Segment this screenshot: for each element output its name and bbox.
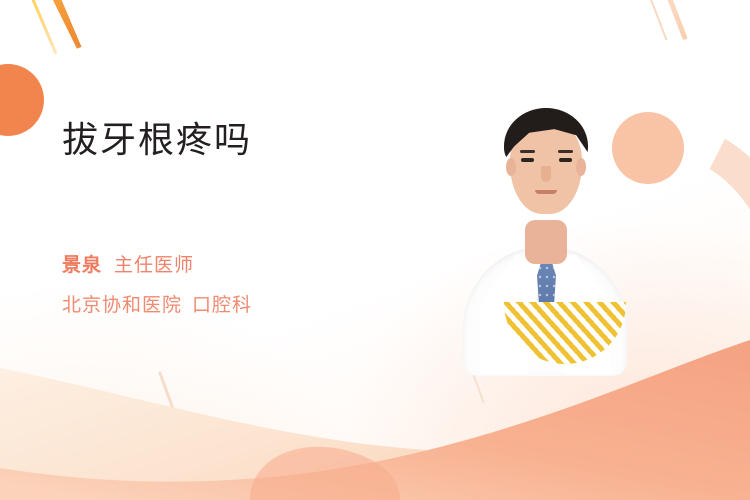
page-title: 拔牙根疼吗 [62, 118, 252, 161]
doctor-eyebrow-left [520, 150, 535, 153]
doctor-hospital: 北京协和医院 [62, 295, 182, 316]
doctor-hospital-department-line: 北京协和医院口腔科 [62, 290, 252, 317]
video-cover-card: 拔牙根疼吗 景泉主任医师 北京协和医院口腔科 [0, 0, 750, 500]
doctor-eye-left [521, 158, 534, 162]
bottom-wave-decoration [0, 340, 750, 500]
doctor-eye-right [559, 158, 572, 162]
doctor-nose [541, 166, 551, 182]
doctor-ear-left [506, 158, 516, 176]
doctor-mouth [535, 190, 557, 194]
doctor-name: 景泉 [62, 255, 102, 276]
doctor-ear-right [576, 158, 586, 176]
doctor-eyebrow-right [558, 150, 573, 153]
doctor-name-title-line: 景泉主任医师 [62, 250, 194, 277]
doctor-title: 主任医师 [114, 255, 194, 276]
doctor-neck [525, 220, 567, 264]
doctor-department: 口腔科 [192, 295, 252, 316]
